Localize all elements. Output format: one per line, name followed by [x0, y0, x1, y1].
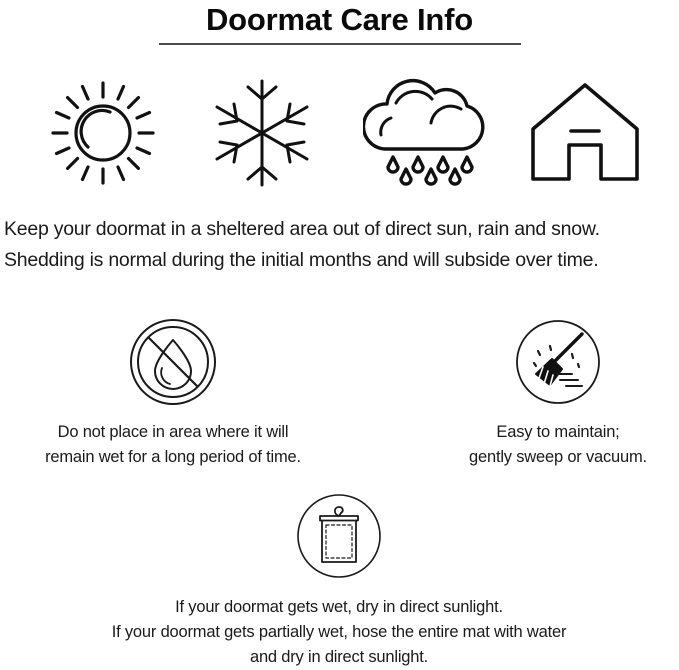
header: Doormat Care Info — [0, 0, 679, 45]
intro-paragraph: Keep your doormat in a sheltered area ou… — [4, 214, 679, 276]
care-panel-no-standing-water-caption: Do not place in area where it will remai… — [23, 420, 323, 470]
caption-line-1: If your doormat gets wet, dry in direct … — [59, 595, 619, 620]
care-panel-dry-in-sunlight-caption: If your doormat gets wet, dry in direct … — [59, 595, 619, 670]
caption-line-1: Easy to maintain; — [408, 420, 679, 445]
caption-line-2: If your doormat gets partially wet, hose… — [59, 620, 619, 645]
weather-icon-row — [0, 70, 679, 195]
hang-to-dry-icon — [189, 486, 489, 586]
house-icon — [520, 70, 650, 195]
caption-line-3: and dry in direct sunlight. — [59, 645, 619, 670]
intro-line-2: Shedding is normal during the initial mo… — [4, 245, 679, 276]
page-title: Doormat Care Info — [0, 2, 679, 38]
no-water-icon — [23, 312, 323, 412]
care-panel-dry-in-sunlight: If your doormat gets wet, dry in direct … — [189, 486, 489, 670]
care-panel-no-standing-water: Do not place in area where it will remai… — [23, 312, 323, 470]
snowflake-icon — [197, 70, 327, 195]
broom-sweep-icon — [408, 312, 679, 412]
rain-cloud-icon — [359, 70, 489, 195]
care-panel-easy-maintain-caption: Easy to maintain; gently sweep or vacuum… — [408, 420, 679, 470]
caption-line-1: Do not place in area where it will — [23, 420, 323, 445]
caption-line-2: gently sweep or vacuum. — [408, 445, 679, 470]
care-panel-easy-maintain: Easy to maintain; gently sweep or vacuum… — [408, 312, 679, 470]
intro-line-1: Keep your doormat in a sheltered area ou… — [4, 214, 679, 245]
sun-icon — [38, 70, 168, 195]
title-underline-divider — [159, 43, 521, 45]
caption-line-2: remain wet for a long period of time. — [23, 445, 323, 470]
